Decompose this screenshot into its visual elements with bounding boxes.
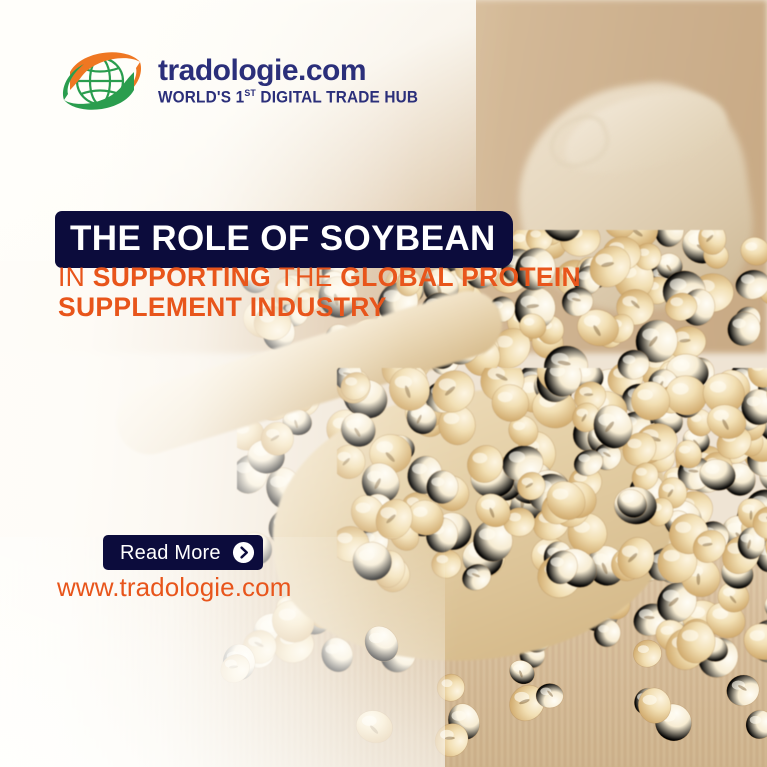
arrow-right-circle-icon: [232, 541, 255, 564]
promo-banner: tradologie.com WORLD'S 1ST DIGITAL TRADE…: [0, 0, 767, 767]
read-more-button[interactable]: Read More: [103, 535, 263, 570]
tagline-superscript: ST: [244, 88, 256, 99]
website-url[interactable]: www.tradologie.com: [57, 572, 291, 603]
headline-box: THE ROLE OF SOYBEAN: [55, 211, 513, 268]
tagline-prefix: WORLD'S 1: [158, 89, 244, 107]
subheading-part-2: SUPPORTING: [93, 262, 279, 292]
brand-logo[interactable]: tradologie.com WORLD'S 1ST DIGITAL TRADE…: [52, 44, 438, 118]
subheading: IN SUPPORTING THE GLOBAL PROTEIN SUPPLEM…: [58, 263, 658, 323]
globe-swoosh-logo-icon: [52, 44, 148, 118]
logo-wordmark: tradologie.com WORLD'S 1ST DIGITAL TRADE…: [158, 56, 438, 106]
subheading-part-1: IN: [58, 262, 93, 292]
page-title: THE ROLE OF SOYBEAN: [70, 221, 496, 256]
read-more-label: Read More: [120, 543, 221, 563]
subheading-part-3: THE: [279, 262, 341, 292]
logo-name: tradologie.com: [158, 56, 438, 86]
logo-tagline: WORLD'S 1ST DIGITAL TRADE HUB: [158, 89, 418, 106]
tagline-suffix: DIGITAL TRADE HUB: [256, 89, 418, 107]
